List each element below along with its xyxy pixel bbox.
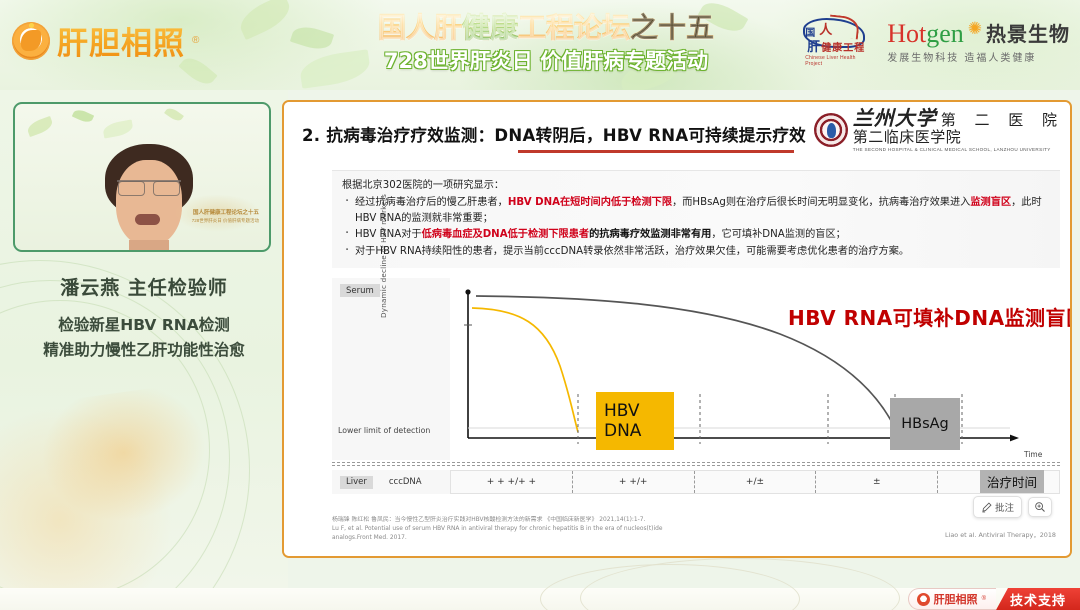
speaker-topic-line1: 检验新星HBV RNA检测 <box>0 313 288 338</box>
annotate-button[interactable]: 批注 <box>973 496 1022 518</box>
banner-title-line1: 国人肝健康工程论坛之十五 <box>336 11 756 45</box>
banner-title-seg-d: 之十五 <box>630 11 714 44</box>
speaker-sidebar: 国人肝健康工程论坛之十五 728世界肝炎日 价值肝病专题活动 潘云燕 主任检验师… <box>0 90 288 588</box>
banner-title-seg-c: 工程论坛 <box>518 11 630 44</box>
hotgen-chinese-name: 热景生物 <box>986 18 1070 47</box>
bullet-text-run: 的抗病毒疗效监测非常有用 <box>589 229 711 240</box>
slide-toolbar: 批注 <box>973 496 1052 518</box>
university-hospital-line: 第 二 医 院 <box>941 113 1064 128</box>
support-registered-mark: ® <box>982 596 986 602</box>
footer-bar: 肝胆相照 ® 技术支持 <box>0 588 1080 610</box>
university-chinese-name: 兰州大学 <box>853 108 937 128</box>
liver-logo-icon <box>12 22 50 60</box>
hbv-dna-label-box: HBVDNA <box>596 392 674 450</box>
leaf-decoration-icon <box>290 22 334 53</box>
chinese-liver-health-project-logo-icon: 国 人 肝 健康工程 Chinese Liver Health Project <box>799 14 873 68</box>
cccdna-value-row: + + +/+ ++ +/++/±±— <box>450 470 1060 494</box>
cccdna-cell: +/± <box>695 471 817 493</box>
university-logo-text: 兰州大学 第 二 医 院 第二临床医学院 THE SECOND HOSPITAL… <box>853 108 1064 153</box>
slide-bullet-item: 对于HBV RNA持续阳性的患者，提示当前cccDNA转录依然非常活跃，治疗效果… <box>342 244 1050 260</box>
university-seal-icon <box>814 113 848 147</box>
university-school-line: 第二临床医学院 <box>853 130 1064 145</box>
clhp-char-4: 健康工程 <box>821 39 865 54</box>
banner-title-block: 国人肝健康工程论坛之十五 728世界肝炎日 价值肝病专题活动 <box>336 11 756 74</box>
chart-series-hbv-dna <box>472 308 578 432</box>
leaf-decoration-icon <box>72 107 94 125</box>
hbv-marker-decline-chart: Serum Dynamic decline of HBV markers Low… <box>332 274 1060 496</box>
liver-accent-shape <box>828 14 860 39</box>
bullet-text-run: HBV DNA在短时间内低于检测下限 <box>508 197 672 208</box>
speaker-topic: 检验新星HBV RNA检测 精准助力慢性乙肝功能性治愈 <box>0 313 288 363</box>
bullet-text-run: ，它可填补DNA监测的盲区； <box>711 229 846 240</box>
chart-plot-area: HBV RNA可填补DNA监测盲区 HBVDNA HBsAg Time <box>450 278 1060 460</box>
hotgen-word-hot: Hot <box>887 19 926 48</box>
chart-x-axis-arrow <box>1010 435 1019 442</box>
brand-logo: 肝胆相照 ® <box>12 18 199 63</box>
video-watermark-line1: 国人肝健康工程论坛之十五 <box>193 208 259 216</box>
speaker-name: 潘云燕 主任检验师 <box>0 273 288 300</box>
banner-subtitle: 728世界肝炎日 价值肝病专题活动 <box>336 48 756 74</box>
serum-tag: Serum <box>340 284 380 297</box>
butterfly-icon: ✺ <box>968 19 982 39</box>
chart-x-axis-label: Time <box>1024 450 1042 459</box>
liver-tag: Liver <box>340 476 373 489</box>
brand-registered-mark: ® <box>192 35 199 46</box>
clhp-english-name: Chinese Liver Health Project <box>805 55 873 67</box>
slide-references: 杨瑞锋 陈红松 鲁凤民：当今慢性乙型肝炎治疗实践对HBV核酸检测方法的新需求 《… <box>332 516 1060 543</box>
serum-liver-separator <box>332 462 1060 466</box>
lanzhou-university-logo: 兰州大学 第 二 医 院 第二临床医学院 THE SECOND HOSPITAL… <box>814 108 1064 153</box>
reference-line-1: 杨瑞锋 陈红松 鲁凤民：当今慢性乙型肝炎治疗实践对HBV核酸检测方法的新需求 《… <box>332 516 852 525</box>
bullet-text-run: 对于HBV RNA持续阳性的患者，提示当前cccDNA转录依然非常活跃，治疗效果… <box>355 246 909 257</box>
annotate-button-label: 批注 <box>995 500 1014 514</box>
slide-bullet-item: HBV RNA对于低病毒血症及DNA低于检测下限患者的抗病毒疗效监测非常有用，它… <box>342 227 1050 243</box>
hbv-dna-label-line1: HBV <box>604 401 674 421</box>
banner-title-seg-a: 国人肝 <box>378 11 462 44</box>
avatar-mouth <box>135 214 160 225</box>
university-english-name: THE SECOND HOSPITAL & CLINICAL MEDICAL S… <box>853 148 1064 153</box>
title-underline <box>518 150 794 153</box>
speaker-topic-line2: 精准助力慢性乙肝功能性治愈 <box>0 338 288 363</box>
leaf-decoration-icon <box>102 120 134 139</box>
screen-root: 肝胆相照 ® 国人肝健康工程论坛之十五 728世界肝炎日 价值肝病专题活动 国 … <box>0 0 1080 610</box>
bullet-text-run: ，而HBsAg则在治疗后很长时间无明显变化，抗病毒治疗效果进入 <box>672 197 970 208</box>
hotgen-logo-row: Hotgen ✺ 热景生物 <box>887 18 1070 47</box>
hbsag-label-box: HBsAg <box>890 398 960 450</box>
hbsag-label: HBsAg <box>901 416 949 432</box>
serum-panel: Serum Dynamic decline of HBV markers Low… <box>332 278 450 460</box>
cccdna-cell: + + +/+ + <box>451 471 573 493</box>
slide: 2. 抗病毒治疗疗效监测：DNA转阴后，HBV RNA可持续提示疗效 兰州大学 … <box>284 102 1070 556</box>
zoom-in-icon <box>1034 501 1046 513</box>
video-watermark-line2: 728世界肝炎日 价值肝病专题活动 <box>192 218 259 224</box>
liver-panel: Liver cccDNA + + +/+ ++ +/++/±±— <box>332 470 1060 494</box>
chart-y-axis-arrow <box>465 289 470 294</box>
clhp-char-3: 肝 <box>807 36 820 55</box>
support-label: 技术支持 <box>996 588 1080 610</box>
leaf-decoration-icon <box>26 116 55 137</box>
pencil-icon <box>981 502 992 513</box>
support-brand-chip: 肝胆相照 ® <box>908 588 996 610</box>
liver-logo-icon <box>917 593 930 606</box>
slide-container: 2. 抗病毒治疗疗效监测：DNA转阴后，HBV RNA可持续提示疗效 兰州大学 … <box>282 100 1072 558</box>
treatment-time-tag: 治疗时间 <box>980 470 1044 493</box>
slide-bullet-item: 经过抗病毒治疗后的慢乙肝患者，HBV DNA在短时间内低于检测下限，而HBsAg… <box>342 195 1050 226</box>
avatar-neck <box>129 240 169 252</box>
speaker-video-tile[interactable]: 国人肝健康工程论坛之十五 728世界肝炎日 价值肝病专题活动 <box>13 102 271 252</box>
top-banner: 肝胆相照 ® 国人肝健康工程论坛之十五 728世界肝炎日 价值肝病专题活动 国 … <box>0 0 1080 90</box>
brand-name: 肝胆相照 <box>57 18 185 63</box>
slide-lead-text: 根据北京302医院的一项研究显示： <box>342 178 1050 193</box>
banner-title-seg-b: 健康 <box>462 11 518 44</box>
references-right: Liao et al. Antiviral Therapy，2018 <box>945 530 1056 539</box>
hbv-dna-label-line2: DNA <box>604 421 674 441</box>
slide-text-block: 根据北京302医院的一项研究显示： 经过抗病毒治疗后的慢乙肝患者，HBV DNA… <box>332 170 1060 268</box>
reference-line-3: analogs.Front Med. 2017. <box>332 534 852 543</box>
chart-red-annotation: HBV RNA可填补DNA监测盲区 <box>788 302 1072 331</box>
bullet-text-run: 低病毒血症及DNA低于检测下限患者 <box>422 229 590 240</box>
chart-y-axis-label: Dynamic decline of HBV markers <box>379 208 388 318</box>
bullet-text-run: 监测盲区 <box>970 197 1011 208</box>
leaf-decoration-icon <box>235 0 295 40</box>
reference-line-2: Lu F, et al. Potential use of serum HBV … <box>332 525 852 534</box>
slide-bullet-list: 经过抗病毒治疗后的慢乙肝患者，HBV DNA在短时间内低于检测下限，而HBsAg… <box>342 195 1050 259</box>
university-logo-row1: 兰州大学 第 二 医 院 <box>853 108 1064 128</box>
leaf-decoration-icon <box>164 106 184 124</box>
banner-logos: 国 人 肝 健康工程 Chinese Liver Health Project … <box>799 14 1070 68</box>
cccdna-cell: + +/+ <box>573 471 695 493</box>
hotgen-wordmark: Hotgen <box>887 21 964 47</box>
hotgen-logo: Hotgen ✺ 热景生物 发展生物科技 造福人类健康 <box>887 18 1070 64</box>
cccdna-cell: ± <box>816 471 938 493</box>
technical-support-badge: 肝胆相照 ® 技术支持 <box>908 588 1080 610</box>
bullet-text-run: HBV RNA对于 <box>355 229 422 240</box>
lower-limit-of-detection-label: Lower limit of detection <box>338 426 430 435</box>
bullet-text-run: 经过抗病毒治疗后的慢乙肝患者， <box>355 197 508 208</box>
clhp-char-2: 人 <box>819 19 832 38</box>
zoom-in-button[interactable] <box>1028 497 1052 517</box>
references-left: 杨瑞锋 陈红松 鲁凤民：当今慢性乙型肝炎治疗实践对HBV核酸检测方法的新需求 《… <box>332 516 852 543</box>
hotgen-word-gen: gen <box>926 19 964 48</box>
support-brand-name: 肝胆相照 <box>934 591 978 607</box>
cccdna-row-label: cccDNA <box>389 477 422 487</box>
hotgen-tagline: 发展生物科技 造福人类健康 <box>887 49 1070 64</box>
ribbon-decoration <box>7 374 284 588</box>
